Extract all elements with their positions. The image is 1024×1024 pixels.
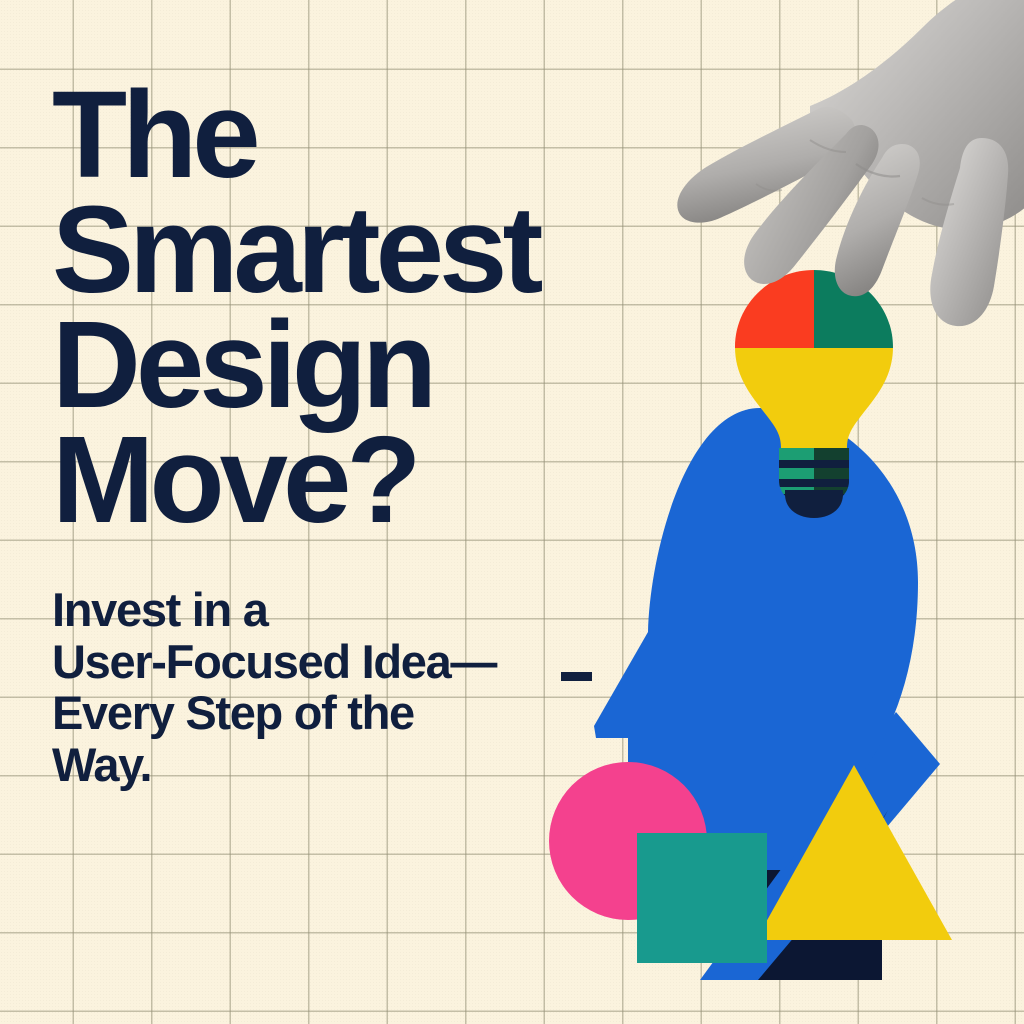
poster-canvas: The Smartest Design Move? Invest in a Us… [0,0,1024,1024]
yellow-triangle [756,765,952,940]
subheadline: Invest in a User-Focused Idea— Every Ste… [52,538,672,791]
page-title: The Smartest Design Move? [52,78,672,538]
teal-square [637,833,767,963]
text-block: The Smartest Design Move? Invest in a Us… [52,78,672,791]
reaching-hand [660,0,1024,348]
